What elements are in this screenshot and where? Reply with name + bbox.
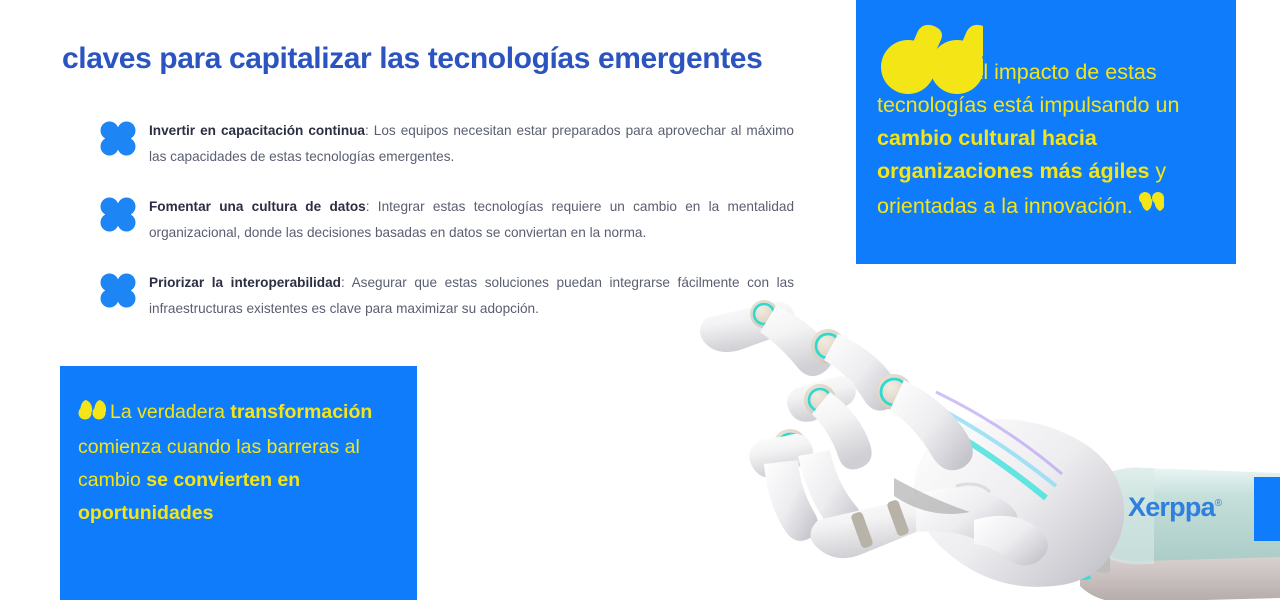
quote-text-bottom-left: La verdadera transformación comienza cua… [78, 396, 408, 530]
list-item: Invertir en capacitación continua: Los e… [94, 118, 794, 170]
quote-text-top-right: El impacto de estas tecnologías está imp… [877, 56, 1217, 223]
clover-bullet-icon [94, 266, 142, 314]
page-title: claves para capitalizar las tecnologías … [62, 42, 762, 76]
list-item-text: Invertir en capacitación continua: Los e… [142, 118, 794, 170]
quote-card-top-right: El impacto de estas tecnologías está imp… [856, 0, 1236, 264]
trademark-symbol: ® [1215, 498, 1222, 509]
logo-text: Xerppa [1128, 492, 1215, 522]
clover-bullet-icon [94, 114, 142, 162]
xerppa-logo: Xerppa® [1128, 492, 1222, 523]
clover-bullet-icon [94, 190, 142, 238]
list-item: Fomentar una cultura de datos: Integrar … [94, 194, 794, 246]
list-item: Priorizar la interoperabilidad: Asegurar… [94, 270, 794, 322]
quote-part-1: La verdadera [110, 401, 230, 423]
infographic-slide: claves para capitalizar las tecnologías … [0, 0, 1280, 600]
key-points-list: Invertir en capacitación continua: Los e… [94, 118, 794, 346]
quote-card-bottom-left: La verdadera transformación comienza cua… [60, 366, 417, 600]
list-item-text: Priorizar la interoperabilidad: Asegurar… [142, 270, 794, 322]
small-close-quote-icon [1138, 188, 1164, 221]
small-open-quote-icon [78, 398, 106, 431]
list-item-lead: Fomentar una cultura de datos [149, 199, 366, 214]
list-item-lead: Priorizar la interoperabilidad [149, 275, 341, 290]
quote-highlight-1: cambio cultural hacia organizaciones más… [877, 126, 1149, 183]
list-item-lead: Invertir en capacitación continua [149, 123, 365, 138]
quote-highlight-1: transformación [230, 401, 372, 423]
accent-bar [1254, 477, 1280, 541]
quote-part-1: El impacto de estas tecnologías está imp… [877, 60, 1179, 117]
list-item-text: Fomentar una cultura de datos: Integrar … [142, 194, 794, 246]
